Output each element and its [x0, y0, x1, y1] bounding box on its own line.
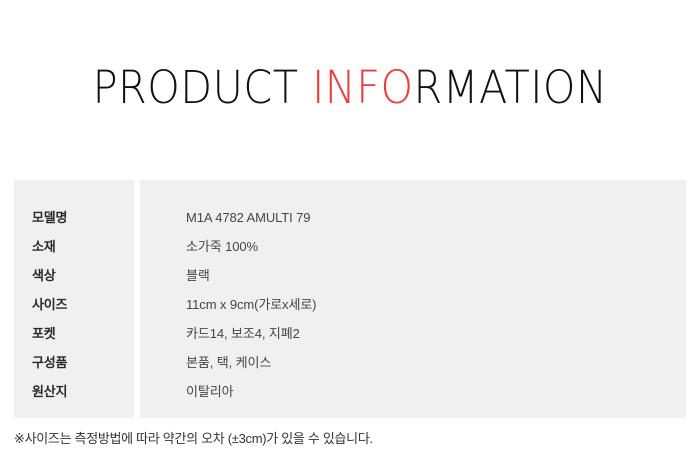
size-disclaimer-note: ※사이즈는 측정방법에 따라 약간의 오차 (±3cm)가 있을 수 있습니다. — [14, 430, 373, 448]
spec-row-value: 카드14, 보조4, 지폐2 — [140, 319, 686, 348]
spec-row-label: 모델명 — [14, 203, 134, 232]
spec-row-value: 본품, 택, 케이스 — [140, 348, 686, 377]
spec-value-column: M1A 4782 AMULTI 79 소가죽 100% 블랙 11cm x 9c… — [140, 180, 686, 418]
spec-row-value: 블랙 — [140, 261, 686, 290]
spec-row-label: 포켓 — [14, 319, 134, 348]
spec-row-value: M1A 4782 AMULTI 79 — [140, 203, 686, 232]
page-title-block: PRODUCT INFORMATION — [0, 62, 700, 114]
spec-row-label: 구성품 — [14, 348, 134, 377]
spec-row-label: 소재 — [14, 232, 134, 261]
page-title: PRODUCT INFORMATION — [28, 62, 672, 114]
product-spec-table: 모델명 소재 색상 사이즈 포켓 구성품 원산지 M1A 4782 AMULTI… — [14, 180, 686, 418]
spec-row-value: 소가죽 100% — [140, 232, 686, 261]
spec-row-value: 11cm x 9cm(가로x세로) — [140, 290, 686, 319]
page-title-segment-3: RMATION — [414, 61, 608, 114]
page-title-segment-1: PRODUCT — [93, 61, 313, 114]
spec-row-label: 색상 — [14, 261, 134, 290]
spec-row-label: 원산지 — [14, 377, 134, 406]
spec-row-label: 사이즈 — [14, 290, 134, 319]
page-title-segment-2: INFO — [312, 61, 413, 114]
spec-label-column: 모델명 소재 색상 사이즈 포켓 구성품 원산지 — [14, 180, 134, 418]
spec-row-value: 이탈리아 — [140, 377, 686, 406]
